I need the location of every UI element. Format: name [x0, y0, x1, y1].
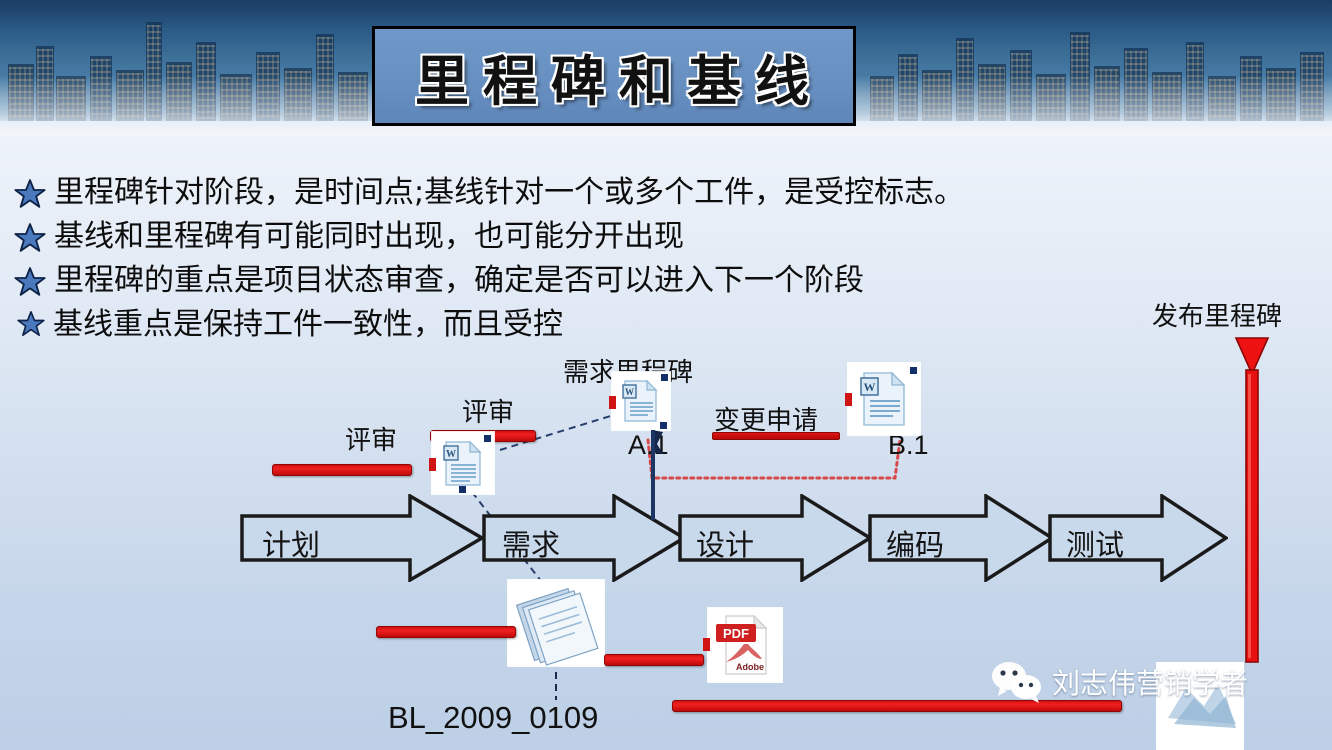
- baseline-bar-plan: [376, 626, 516, 638]
- svg-text:Adobe: Adobe: [736, 662, 764, 672]
- watermark-text: 刘志伟营销学者: [1052, 662, 1248, 702]
- pdf-document-icon[interactable]: PDF Adobe: [708, 608, 782, 682]
- selection-handle[interactable]: [484, 435, 491, 442]
- rotation-handle[interactable]: [609, 396, 616, 409]
- process-diagram: 评审 评审 需求里程碑 变更申请 发布里程碑 A.1 B.1 BL_2009_0…: [0, 0, 1332, 750]
- word-document-icon-a1[interactable]: W: [612, 372, 670, 430]
- phase-arrow-plan[interactable]: 计划: [240, 494, 484, 582]
- watermark: 刘志伟营销学者: [990, 660, 1248, 704]
- svg-text:W: W: [625, 387, 634, 397]
- phase-arrow-coding[interactable]: 编码: [868, 494, 1054, 582]
- change-request-underline: [712, 432, 840, 440]
- rotation-handle[interactable]: [429, 458, 436, 471]
- selection-handle[interactable]: [661, 374, 668, 381]
- phase-label: 设计: [696, 522, 754, 564]
- review-label-2: 评审: [462, 392, 514, 429]
- requirement-milestone-flag: [648, 428, 666, 525]
- phase-label: 计划: [262, 522, 320, 564]
- svg-text:W: W: [446, 449, 456, 460]
- phase-label: 需求: [502, 522, 560, 564]
- selection-handle[interactable]: [459, 486, 466, 493]
- svg-text:PDF: PDF: [723, 626, 749, 641]
- phase-label: 编码: [886, 522, 944, 564]
- rotation-handle[interactable]: [845, 393, 852, 406]
- documents-stack-icon[interactable]: [508, 580, 604, 666]
- rotation-handle[interactable]: [703, 638, 710, 651]
- svg-text:W: W: [864, 380, 876, 394]
- phase-label: 测试: [1066, 522, 1124, 564]
- baseline-label: BL_2009_0109: [388, 700, 598, 736]
- selection-handle[interactable]: [910, 367, 917, 374]
- phase-arrow-test[interactable]: 测试: [1048, 494, 1228, 582]
- word-document-icon-1[interactable]: W: [432, 432, 494, 494]
- review-label-1: 评审: [345, 420, 397, 457]
- slide-canvas: 里程碑和基线 里程碑针对阶段，是时间点;基线针对一个或多个工件，是受控标志。 基…: [0, 0, 1332, 750]
- baseline-bar-review-1: [272, 464, 412, 476]
- phase-arrow-design[interactable]: 设计: [678, 494, 872, 582]
- release-milestone-flag: [1232, 334, 1272, 671]
- release-milestone-label: 发布里程碑: [1152, 296, 1282, 333]
- wechat-icon: [990, 660, 1046, 704]
- word-document-icon-b1[interactable]: W: [848, 363, 920, 435]
- baseline-bar-requirement: [604, 654, 704, 666]
